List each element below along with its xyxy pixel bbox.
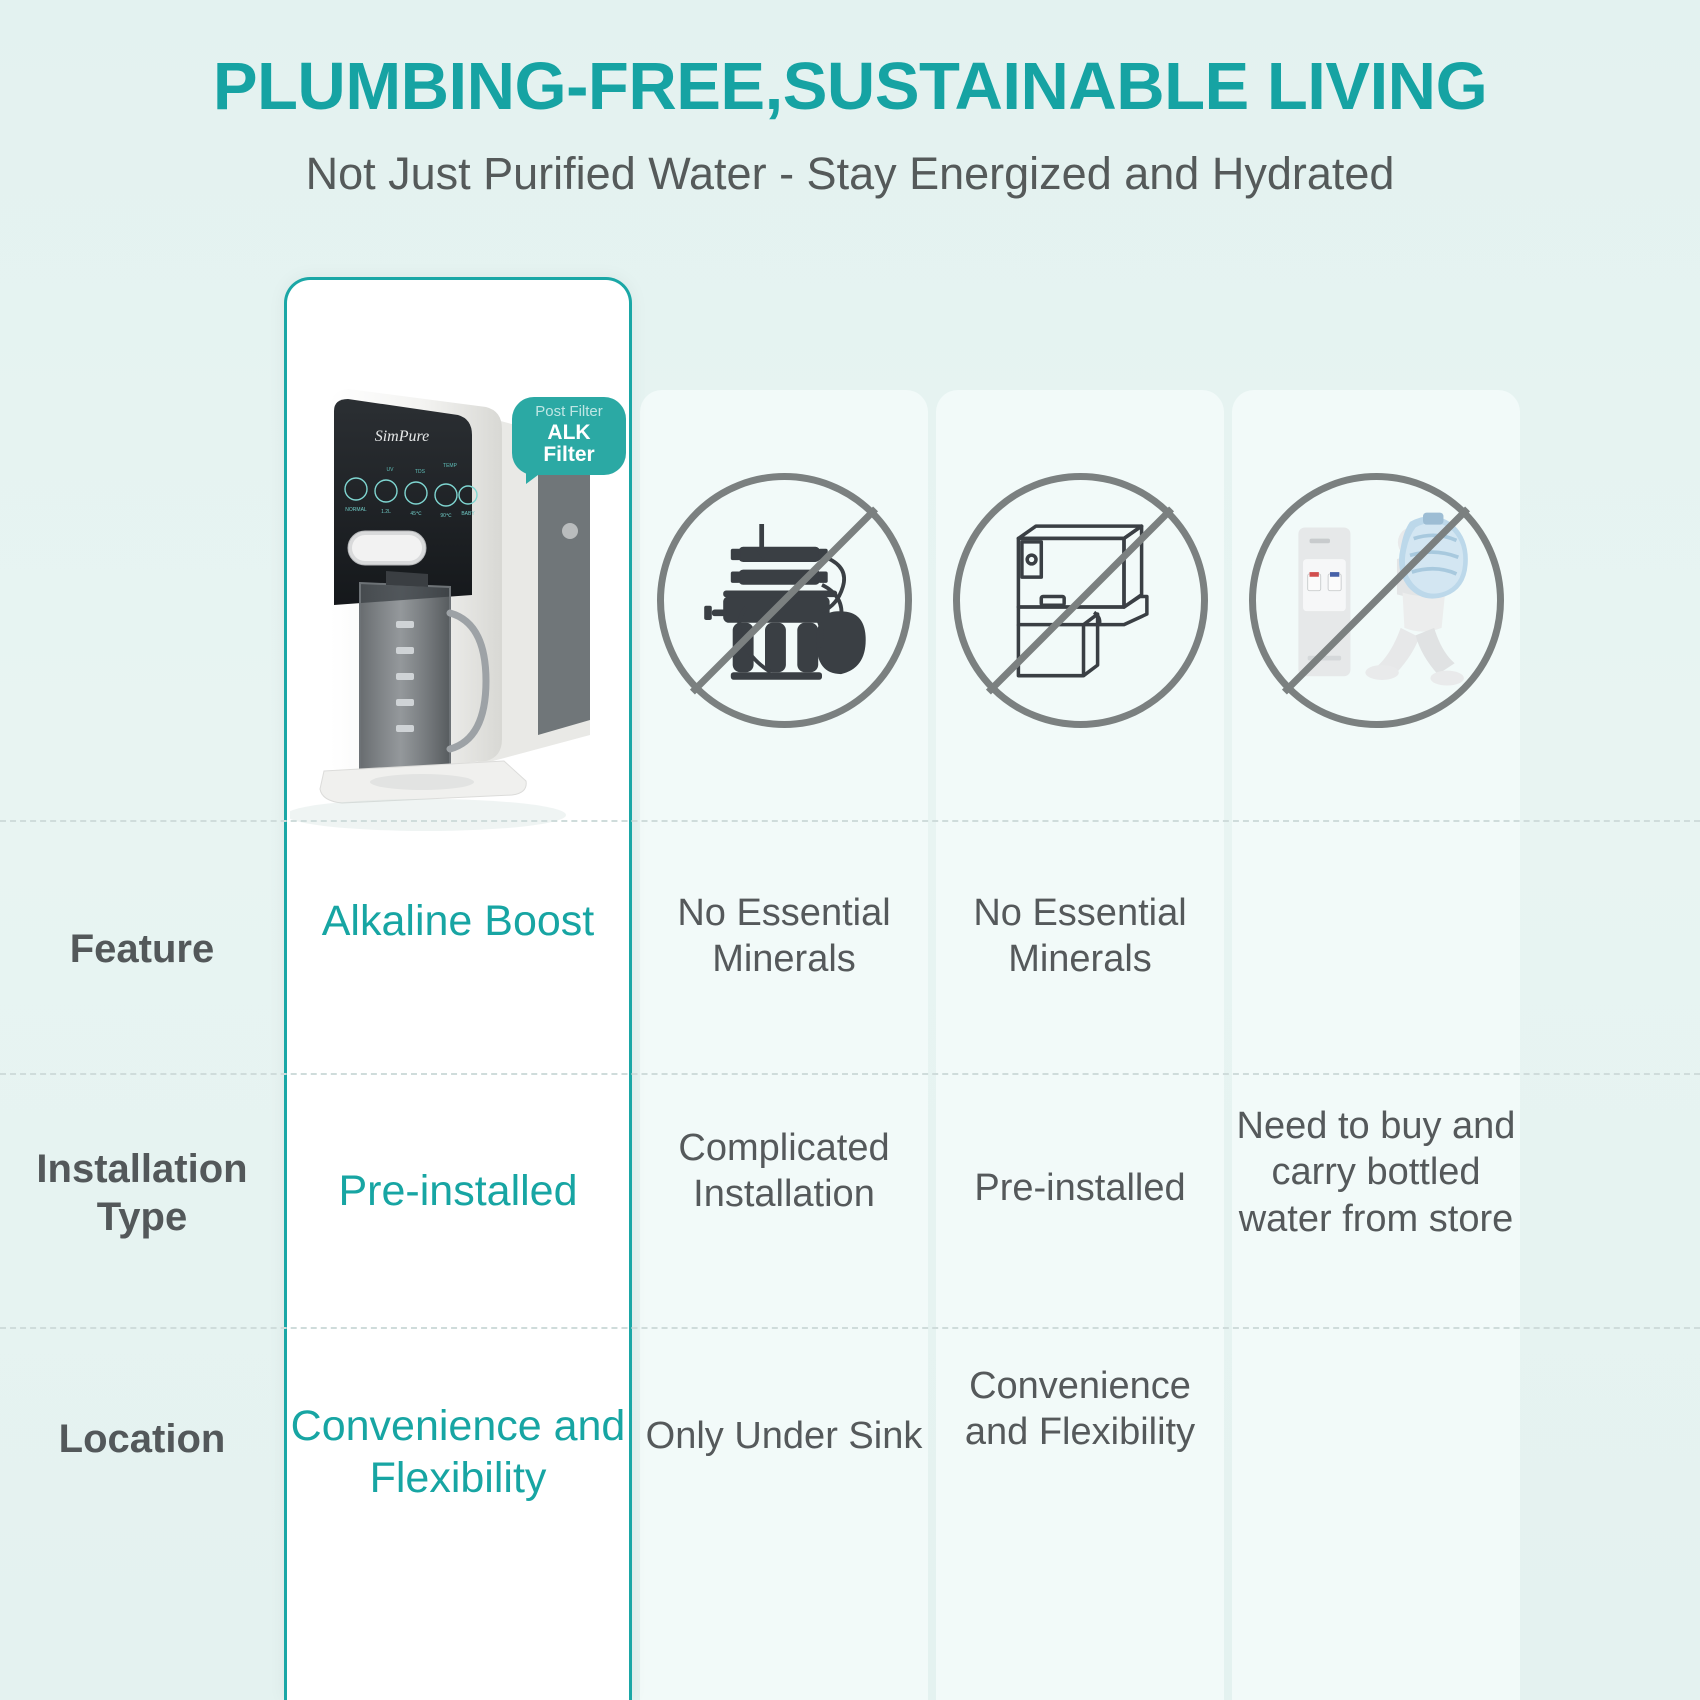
page-subtitle: Not Just Purified Water - Stay Energized…: [0, 148, 1700, 200]
svg-text:SimPure: SimPure: [375, 428, 430, 445]
svg-text:45℃: 45℃: [410, 511, 422, 517]
row-divider: [0, 820, 1700, 822]
cell-installation-undersink-ro: Complicated Installation: [640, 1125, 928, 1218]
header: PLUMBING-FREE,SUSTAINABLE LIVING Not Jus…: [0, 0, 1700, 200]
cell-feature-highlight: Alkaline Boost: [284, 895, 632, 947]
row-label-location: Location: [0, 1415, 284, 1463]
cell-location-undersink-ro: Only Under Sink: [640, 1413, 928, 1459]
row-divider: [0, 1327, 1700, 1329]
svg-text:90℃: 90℃: [440, 513, 452, 519]
no-undersink-ro-icon: [640, 450, 928, 750]
comparison-table: SimPure NORMAL1.2L 45℃90℃BABY UVTDSTEMP: [0, 235, 1700, 1700]
cell-installation-countertop-dispenser: Pre-installed: [936, 1165, 1224, 1211]
no-countertop-dispenser-icon: [936, 450, 1224, 750]
row-label-installation-type: Installation Type: [0, 1145, 284, 1241]
cell-location-countertop-dispenser: Convenience and Flexibility: [936, 1363, 1224, 1456]
row-label-feature: Feature: [0, 925, 284, 973]
product-image: SimPure NORMAL1.2L 45℃90℃BABY UVTDSTEMP: [290, 295, 626, 855]
svg-text:TDS: TDS: [415, 469, 426, 475]
cell-location-highlight: Convenience and Flexibility: [284, 1400, 632, 1505]
alk-filter-badge: Post Filter ALK Filter: [512, 397, 626, 475]
svg-text:BABY: BABY: [461, 511, 475, 517]
svg-text:UV: UV: [387, 467, 395, 473]
svg-text:NORMAL: NORMAL: [345, 507, 367, 513]
no-bottled-water-cooler-icon: [1232, 450, 1520, 750]
badge-main-label: ALK Filter: [526, 422, 612, 466]
svg-text:1.2L: 1.2L: [381, 509, 391, 515]
cell-installation-highlight: Pre-installed: [284, 1165, 632, 1217]
svg-text:TEMP: TEMP: [443, 463, 458, 469]
page-title: PLUMBING-FREE,SUSTAINABLE LIVING: [0, 52, 1700, 122]
row-divider: [0, 1073, 1700, 1075]
cell-feature-undersink-ro: No Essential Minerals: [640, 890, 928, 983]
cell-feature-countertop-dispenser: No Essential Minerals: [936, 890, 1224, 983]
cell-installation-bottled-water-cooler: Need to buy and carry bottled water from…: [1232, 1103, 1520, 1242]
badge-top-label: Post Filter: [526, 404, 612, 420]
